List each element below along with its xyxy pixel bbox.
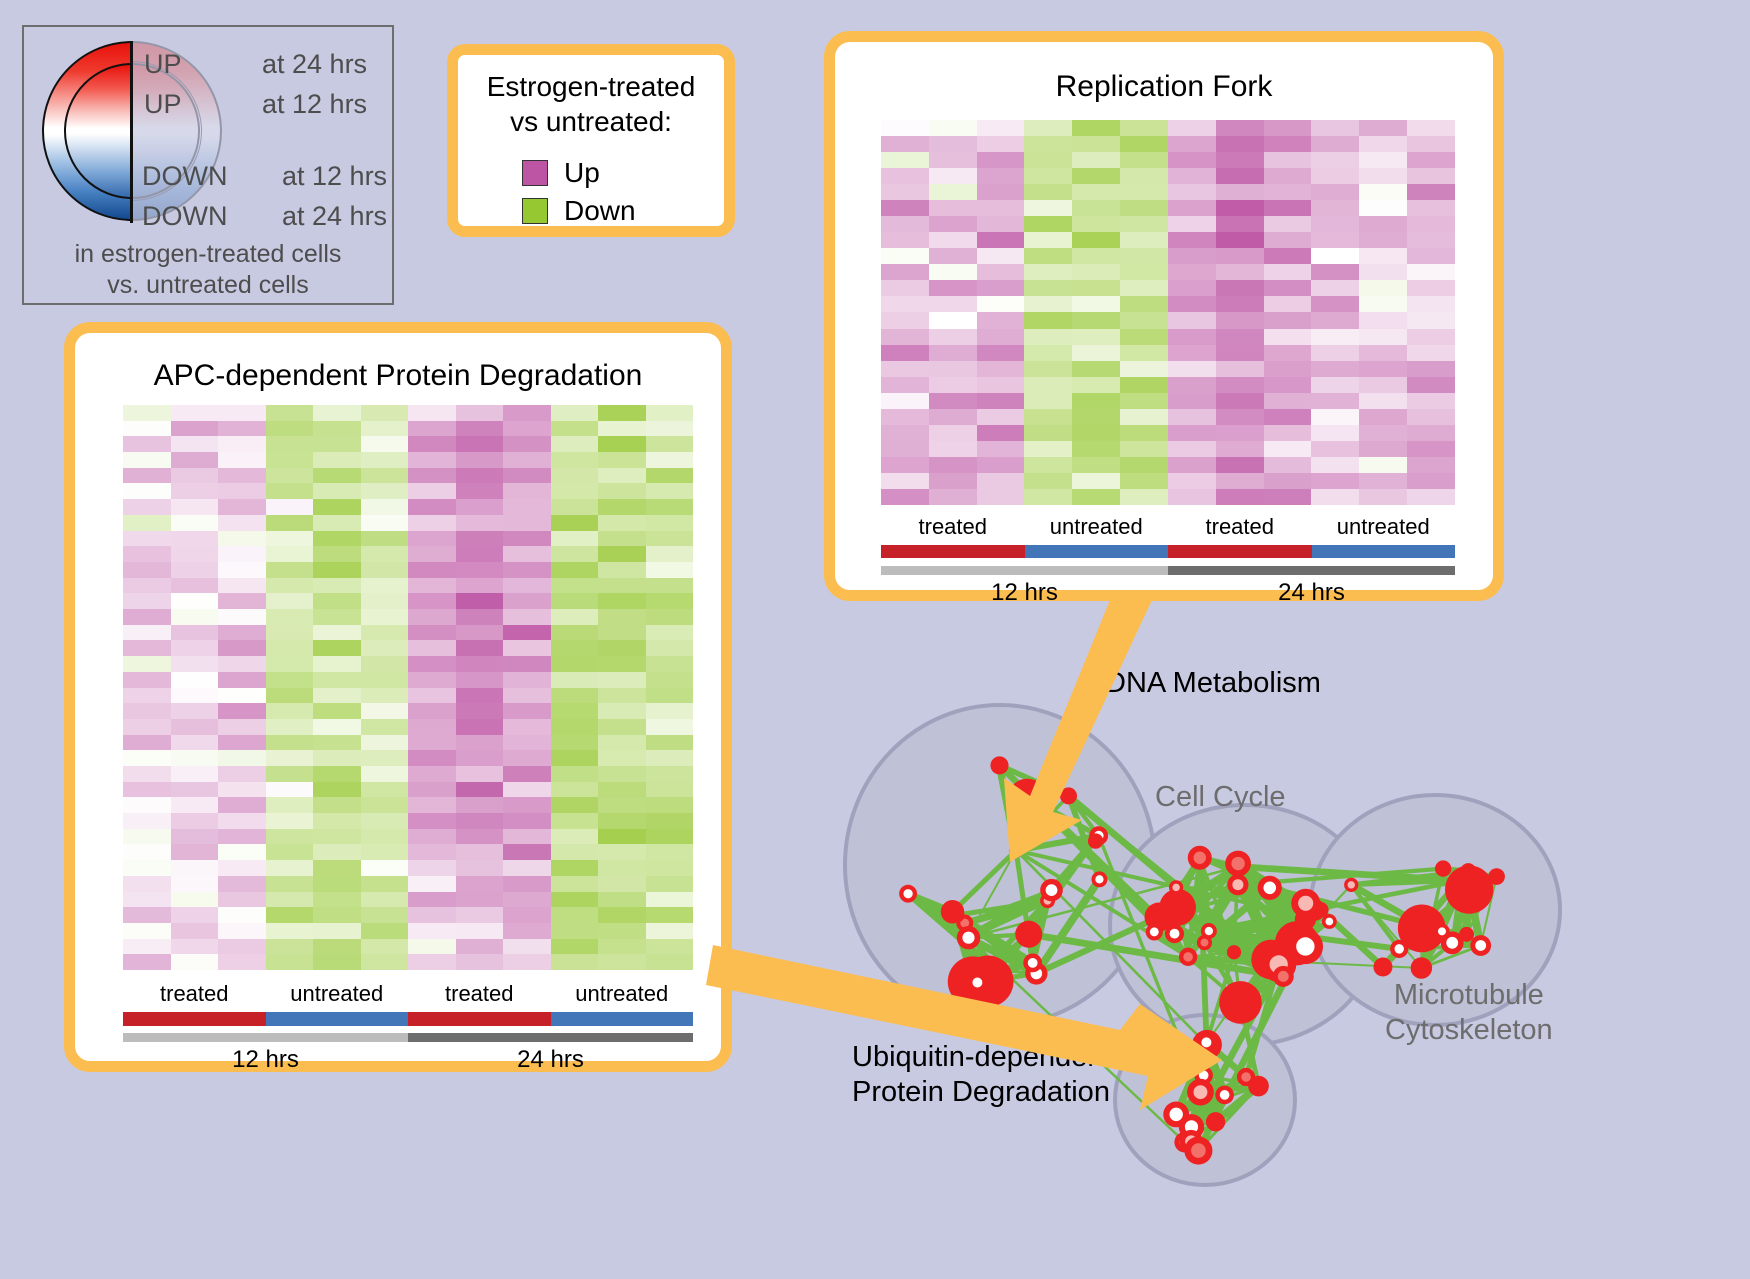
heatmap-cell [266,499,314,515]
heatmap-cell [361,499,409,515]
heatmap-cell [361,452,409,468]
heatmap-cell [171,750,219,766]
network-node[interactable] [1373,957,1392,976]
node-inner-core [1439,864,1447,872]
heatmap-cell [1359,120,1407,136]
heatmap-cell [1024,361,1072,377]
group-label-0: treated [123,981,266,1007]
heatmap-cell [551,844,599,860]
heatmap-cell [266,562,314,578]
heatmap-cell [503,860,551,876]
node-inner-core [1046,884,1058,896]
heatmap-cell [1359,248,1407,264]
network-node[interactable] [1023,953,1042,972]
heatmap-cell [551,640,599,656]
heatmap-cell [881,473,929,489]
heatmap-cell [551,436,599,452]
network-node[interactable] [1169,880,1183,894]
network-node[interactable] [1184,1137,1212,1165]
heatmap-cell [1216,264,1264,280]
network-node[interactable] [1040,879,1063,902]
heatmap-cell [929,377,977,393]
heatmap-cell [1072,345,1120,361]
heatmap-cell [881,377,929,393]
heatmap-cell [1120,329,1168,345]
heatmap-cell [408,813,456,829]
heatmap-cell [598,907,646,923]
heatmap-cell [1216,200,1264,216]
heatmap-cell [456,719,504,735]
heatmap-cell [313,907,361,923]
heatmap-cell [646,782,694,798]
heatmap-cell [1311,409,1359,425]
heatmap-cell [1168,248,1216,264]
heatmap-cell [171,562,219,578]
node-inner-core [1394,944,1403,953]
heatmap-cell [313,656,361,672]
heatmap-cell [1024,312,1072,328]
heatmap-cell [1120,441,1168,457]
heatmap-cell [1311,248,1359,264]
heatmap-cell [218,578,266,594]
key-label-down: Down [564,195,636,227]
network-node[interactable] [1165,924,1184,943]
heatmap-cell [929,361,977,377]
network-node[interactable] [1434,924,1449,939]
heatmap-cell [218,468,266,484]
heatmap-cell [266,719,314,735]
heatmap-cell [1024,425,1072,441]
heatmap-cell [456,703,504,719]
heatmap-cell [1407,232,1455,248]
heatmap-cell [361,766,409,782]
network-node[interactable] [1435,860,1451,876]
heatmap-cell [503,813,551,829]
heatmap-cell [551,782,599,798]
network-node[interactable] [1227,945,1241,959]
key-entry-down: Down [522,195,636,227]
heatmap-cell [1311,296,1359,312]
network-node[interactable] [1460,863,1476,879]
heatmap-cell [1168,425,1216,441]
heatmap-cell [1072,120,1120,136]
heatmap-cell [598,923,646,939]
heatmap-cell [598,468,646,484]
network-node[interactable] [1091,871,1107,887]
heatmap-cell [1407,216,1455,232]
heatmap-cell [408,766,456,782]
heatmap-cell [218,813,266,829]
heatmap-cell [123,735,171,751]
heatmap-cell [1311,168,1359,184]
heatmap-cell [598,562,646,578]
heatmap-cell [171,735,219,751]
node-inner-core [1263,882,1276,895]
network-node[interactable] [1188,846,1212,870]
network-node[interactable] [941,900,964,923]
heatmap-cell [646,829,694,845]
heatmap-cell [313,923,361,939]
heatmap-cell [266,515,314,531]
heatmap-cell [313,766,361,782]
heatmap-cell [266,468,314,484]
heatmap-cell [266,703,314,719]
heatmap-cell [1024,120,1072,136]
heatmap-cell [361,483,409,499]
heatmap-cell [123,829,171,845]
heatmap-cell [551,421,599,437]
network-node[interactable] [1088,833,1103,848]
heatmap-cell [218,452,266,468]
heatmap-cell [1168,473,1216,489]
heatmap-cell [1024,184,1072,200]
heatmap-cell [881,409,929,425]
heatmap-cell [456,436,504,452]
heatmap-cell [1024,377,1072,393]
heatmap-cell [598,578,646,594]
heatmap-cell [551,562,599,578]
heatmap-cell [1072,425,1120,441]
heatmap-cell [408,797,456,813]
heatmap-cell [313,578,361,594]
network-node[interactable] [1060,787,1077,804]
heatmap-cell [551,939,599,955]
heatmap-cell [598,766,646,782]
node-inner-core [1201,939,1209,947]
heatmap-cell [646,892,694,908]
heatmap-cell [646,656,694,672]
heatmap-cell [977,312,1025,328]
heatmap-cell [646,593,694,609]
heatmap-cell [1072,248,1120,264]
updown-key-box: Estrogen-treated vs untreated: Up Down [447,44,735,237]
heatmap-cell [456,766,504,782]
network-node[interactable] [1009,843,1023,857]
node-outer-ring [1008,779,1046,817]
heatmap-cell [1216,312,1264,328]
node-inner-core [972,978,982,988]
heatmap-cell [1216,489,1264,505]
heatmap-cell [1311,393,1359,409]
heatmap-cell [123,860,171,876]
heatmap-cell [1072,393,1120,409]
heatmap-cell [1168,329,1216,345]
network-node[interactable] [1411,957,1433,979]
heatmap-cell [977,425,1025,441]
heatmap-cell [646,954,694,970]
heatmap-cell [313,499,361,515]
heatmap-cell [1359,312,1407,328]
heatmap-cell [929,200,977,216]
heatmap-cell [1264,457,1312,473]
network-node[interactable] [1273,966,1294,987]
heatmap-cell [503,468,551,484]
heatmap-cell [456,735,504,751]
treatment-seg-3 [1312,545,1456,558]
heatmap-cell [1216,216,1264,232]
heatmap-cell [1264,296,1312,312]
heatmap-cell [1407,457,1455,473]
network-node[interactable] [899,885,917,903]
heatmap-cell [123,782,171,798]
heatmap-cell [123,719,171,735]
heatmap-cell [598,876,646,892]
node-inner-core [1092,837,1100,845]
heatmap-cell [171,797,219,813]
network-node[interactable] [1488,868,1505,885]
heatmap-cell [1407,280,1455,296]
heatmap-cell [171,515,219,531]
heatmap-cell [1024,473,1072,489]
heatmap-cell [266,688,314,704]
network-node[interactable] [1258,876,1282,900]
heatmap-cell [551,405,599,421]
heatmap-cell [881,489,929,505]
heatmap-cell [408,672,456,688]
heatmap-cell [598,672,646,688]
network-node[interactable] [1163,1101,1189,1127]
heatmap-cell [456,515,504,531]
heatmap-cell [646,625,694,641]
node-inner-core [1170,929,1180,939]
heatmap-cell [266,405,314,421]
heatmap-cell [1407,489,1455,505]
heatmap-cell [1407,312,1455,328]
treatment-seg-1 [266,1012,409,1026]
network-node[interactable] [988,961,1005,978]
heatmap-cell [1216,248,1264,264]
node-inner-core [1464,867,1472,875]
time-label-24: 24 hrs [1168,579,1455,607]
heatmap-cell [408,829,456,845]
heatmap-cell [1359,441,1407,457]
heatmap-cell [1216,425,1264,441]
heatmap-cell [123,954,171,970]
heatmap-cell [977,441,1025,457]
heatmap-cell [929,264,977,280]
heatmap-cell [218,735,266,751]
node-inner-core [992,965,1001,974]
heatmap-cell [1264,473,1312,489]
wheel-time-down-12: at 12 hrs [282,161,387,192]
heatmap-cell [266,483,314,499]
network-node[interactable] [957,926,980,949]
heatmap-cell [313,531,361,547]
heatmap-cell [503,578,551,594]
heatmap-cell [361,640,409,656]
network-node[interactable] [1206,1112,1225,1131]
network-node[interactable] [1248,1076,1269,1097]
heatmap-cell [1311,473,1359,489]
node-inner-core [1150,927,1159,936]
node-inner-core [1317,906,1325,914]
heatmap-cell [171,546,219,562]
heatmap-cell [456,829,504,845]
network-node[interactable] [1219,981,1262,1024]
heatmap-cell [218,593,266,609]
heatmap-cell [1359,184,1407,200]
heatmap-cell [361,860,409,876]
heatmap-cell [408,593,456,609]
heatmap-cell [1359,489,1407,505]
heatmap-cell [218,939,266,955]
heatmap-cell [929,345,977,361]
heatmap-cell [218,609,266,625]
heatmap-cell [881,168,929,184]
treatment-seg-3 [551,1012,694,1026]
network-node[interactable] [1470,935,1491,956]
heatmap-cell [313,954,361,970]
heatmap-cell [266,892,314,908]
heatmap-cell [1359,409,1407,425]
network-node[interactable] [1459,927,1474,942]
heatmap-cell [313,483,361,499]
heatmap-cell [503,923,551,939]
heatmap-cell [1168,264,1216,280]
heatmap-cell [123,640,171,656]
network-node[interactable] [1008,779,1046,817]
heatmap-cell [171,609,219,625]
heatmap-cell [408,923,456,939]
network-node[interactable] [968,973,987,992]
heatmap-cell [598,813,646,829]
heatmap-cell [881,216,929,232]
heatmap-cell [313,892,361,908]
heatmap-cell [1120,280,1168,296]
network-node[interactable] [990,756,1008,774]
heatmap-cell [408,483,456,499]
heatmap-cell [977,329,1025,345]
heatmap-cell [408,656,456,672]
heatmap-cell [1359,216,1407,232]
heatmap-cell [408,892,456,908]
heatmap-cell [881,152,929,168]
heatmap-cell [408,703,456,719]
network-node[interactable] [1197,1033,1216,1052]
heatmap-cell [313,813,361,829]
network-node[interactable] [1015,921,1042,948]
heatmap-cell [1359,200,1407,216]
microtubule-line2: Cytoskeleton [1385,1013,1553,1048]
heatmap-cell [1168,441,1216,457]
group-label-3: untreated [551,981,694,1007]
node-inner-core [1191,1143,1206,1158]
heatmap-cell [361,656,409,672]
heatmap-cell [361,609,409,625]
heatmap-cell [1168,232,1216,248]
heatmap-cell [646,750,694,766]
heatmap-cell [171,782,219,798]
node-inner-core [1028,958,1038,968]
heatmap-cell [1264,200,1312,216]
replication-fork-heatmap [881,120,1455,505]
heatmap-cell [598,405,646,421]
heatmap-cell [1407,168,1455,184]
heatmap-cell [929,296,977,312]
network-node[interactable] [1187,1079,1214,1106]
heatmap-cell [1168,216,1216,232]
heatmap-cell [218,656,266,672]
heatmap-cell [646,562,694,578]
heatmap-cell [408,405,456,421]
heatmap-cell [598,735,646,751]
heatmap-cell [598,797,646,813]
heatmap-cell [1264,184,1312,200]
heatmap-cell [1359,232,1407,248]
heatmap-cell [1216,136,1264,152]
heatmap-cell [881,120,929,136]
heatmap-cell [456,531,504,547]
heatmap-cell [313,797,361,813]
heatmap-cell [1024,248,1072,264]
network-node[interactable] [1215,1086,1234,1105]
node-inner-core [1211,1117,1221,1127]
heatmap-cell [1359,168,1407,184]
heatmap-cell [1216,441,1264,457]
heatmap-cell [218,797,266,813]
heatmap-cell [123,907,171,923]
network-node[interactable] [1390,940,1408,958]
network-node[interactable] [1227,874,1248,895]
treatment-seg-0 [881,545,1025,558]
heatmap-cell [503,782,551,798]
group-label-0: treated [881,514,1025,540]
heatmap-cell [881,393,929,409]
group-label-2: treated [408,981,551,1007]
heatmap-cell [503,750,551,766]
heatmap-cell [171,688,219,704]
heatmap-cell [266,625,314,641]
heatmap-cell [171,656,219,672]
heatmap-cell [1120,377,1168,393]
heatmap-cell [218,782,266,798]
heatmap-cell [1072,280,1120,296]
network-node[interactable] [1344,878,1358,892]
network-node[interactable] [1313,902,1329,918]
heatmap-cell [266,923,314,939]
node-inner-core [1278,971,1289,982]
heatmap-cell [123,813,171,829]
heatmap-cell [361,672,409,688]
heatmap-cell [1168,457,1216,473]
node-inner-core [1194,1085,1208,1099]
network-node[interactable] [1179,948,1197,966]
heatmap-cell [1264,264,1312,280]
treatment-seg-0 [123,1012,266,1026]
replication-fork-group-labels: treated untreated treated untreated [881,514,1455,540]
node-inner-core [1296,937,1314,955]
network-node[interactable] [1146,923,1163,940]
network-node[interactable] [1201,923,1217,939]
heatmap-cell [551,656,599,672]
apc-treatment-bar [123,1012,693,1026]
heatmap-cell [551,546,599,562]
heatmap-cell [503,562,551,578]
heatmap-cell [313,829,361,845]
network-node[interactable] [1225,851,1251,877]
heatmap-cell [1311,457,1359,473]
heatmap-cell [646,515,694,531]
network-node[interactable] [1288,929,1323,964]
heatmap-cell [881,264,929,280]
heatmap-cell [598,860,646,876]
heatmap-cell [503,625,551,641]
heatmap-cell [929,248,977,264]
heatmap-cell [1264,393,1312,409]
heatmap-cell [1024,216,1072,232]
heatmap-cell [1216,280,1264,296]
group-label-3: untreated [1312,514,1456,540]
